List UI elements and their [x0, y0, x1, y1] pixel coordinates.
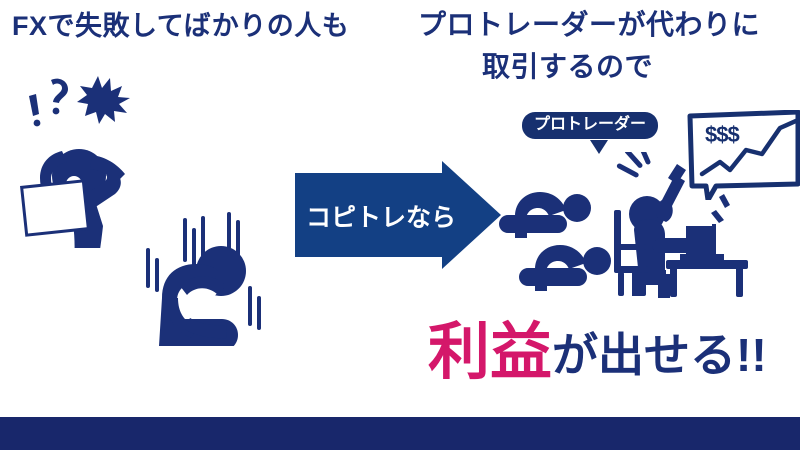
transition-arrow: コピトレなら — [292, 158, 504, 273]
pro-trader-tag: プロトレーダー — [522, 112, 658, 139]
infographic-canvas: FXで失敗してばかりの人も プロトレーダーが代わりに 取引するので — [0, 0, 800, 450]
headline-right-line1: プロトレーダーが代わりに — [418, 10, 760, 39]
bowing-person-top-figure — [497, 190, 597, 242]
bottom-headline-rest: が出せる!! — [552, 329, 767, 381]
celebrating-person-figure — [612, 152, 750, 298]
headline-right-line2: 取引するので — [482, 52, 653, 81]
bottom-headline-highlight: 利益 — [428, 318, 552, 387]
depressed-person-figure — [132, 186, 272, 346]
headline-left: FXで失敗してばかりの人も — [12, 12, 349, 40]
speech-bubble-tail — [590, 140, 608, 154]
chart-board-money-label: $$$ — [705, 122, 739, 148]
arrow-label: コピトレなら — [306, 198, 466, 234]
bowing-person-bottom-figure — [517, 243, 617, 295]
bottom-headline: 利益が出せる!! — [428, 322, 767, 384]
bottom-accent-bar — [0, 417, 800, 450]
pro-trader-tag-label: プロトレーダー — [522, 112, 658, 139]
